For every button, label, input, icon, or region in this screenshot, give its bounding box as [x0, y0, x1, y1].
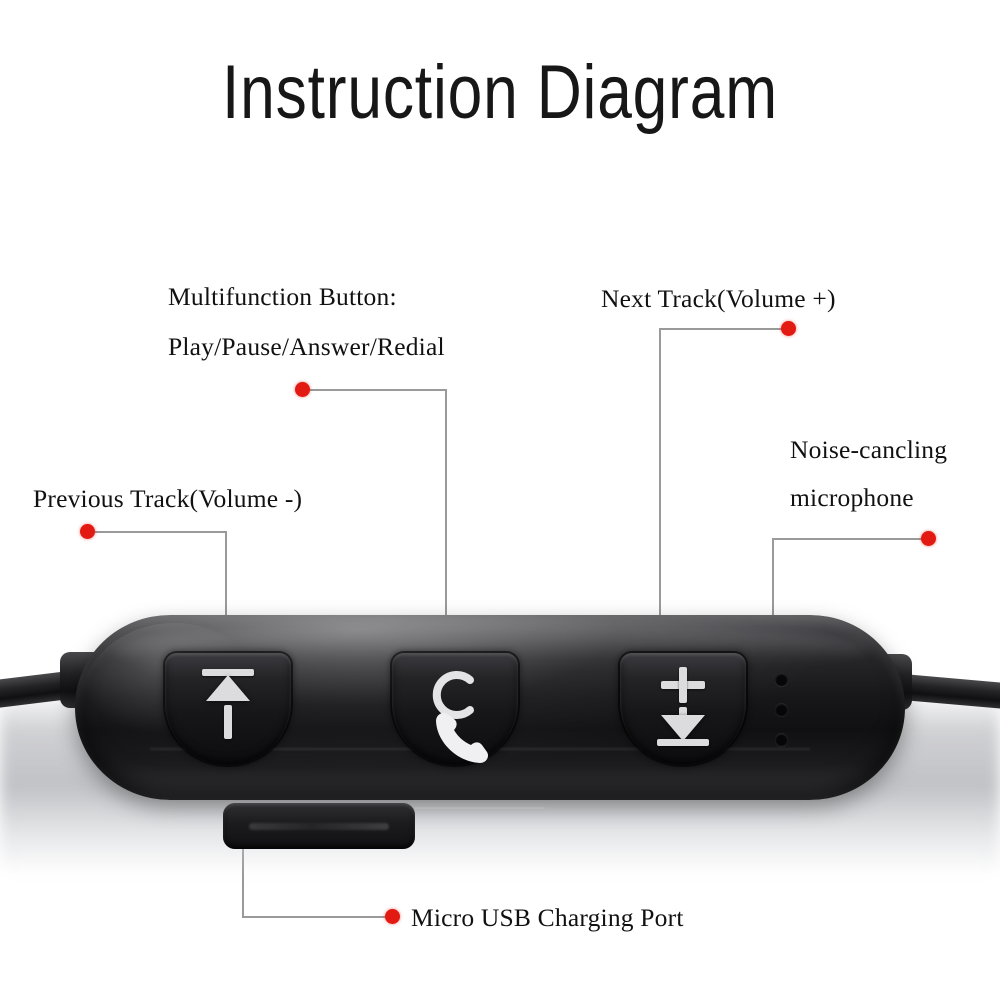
leader-dot-multifunction [295, 382, 310, 397]
leader-line-previous-track-horizontal [94, 531, 227, 533]
previous-track-icon [193, 669, 263, 741]
leader-dot-previous-track [80, 524, 95, 539]
control-module-device [0, 580, 1000, 880]
device-body [75, 615, 905, 800]
instruction-diagram-page: Instruction Diagram Multifunction Button… [0, 0, 1000, 1000]
leader-dot-micro-usb [385, 909, 400, 924]
leader-line-next-track-horizontal [659, 328, 789, 330]
page-title: Instruction Diagram [90, 55, 910, 131]
leader-line-noise-cancelling-horizontal [772, 538, 929, 540]
leader-line-micro-usb-horizontal [242, 916, 392, 918]
callout-label-next-track: Next Track(Volume +) [601, 274, 836, 324]
microphone-hole-2 [775, 703, 788, 716]
power-call-icon [392, 663, 518, 767]
callout-label-noise-cancelling-line2: microphone [790, 473, 914, 523]
microphone-hole-3 [775, 733, 788, 746]
callout-label-micro-usb: Micro USB Charging Port [411, 893, 684, 943]
callout-label-noise-cancelling-line1: Noise-cancling [790, 425, 947, 475]
next-track-icon [648, 665, 718, 747]
button-multifunction[interactable] [392, 653, 518, 765]
leader-line-multifunction-horizontal [309, 389, 447, 391]
microphone-hole-1 [775, 673, 788, 686]
callout-label-multifunction-line2: Play/Pause/Answer/Redial [168, 322, 445, 372]
callout-label-multifunction-line1: Multifunction Button: [168, 272, 397, 322]
usb-cover-seam [415, 807, 545, 809]
leader-dot-next-track [781, 321, 796, 336]
callout-label-previous-track: Previous Track(Volume -) [33, 474, 302, 524]
micro-usb-port[interactable] [223, 803, 415, 849]
leader-dot-noise-cancelling [921, 531, 936, 546]
